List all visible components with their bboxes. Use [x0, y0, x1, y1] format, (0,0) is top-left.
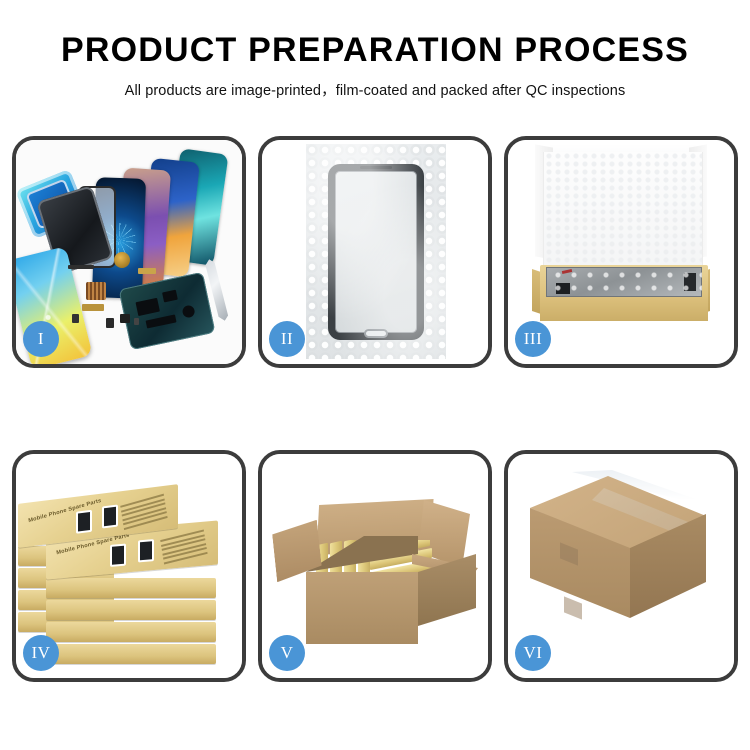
tape-tab-icon [564, 596, 582, 619]
small-part-icon [134, 318, 139, 325]
connector-grid-icon [86, 282, 106, 300]
step-badge-1: I [23, 321, 59, 357]
red-marker-icon [562, 269, 572, 274]
label-screen-image [102, 505, 118, 529]
kraft-inner-box [540, 265, 708, 321]
step-badge-5: V [269, 635, 305, 671]
step-badge-4: IV [23, 635, 59, 671]
step-panel-3: III [504, 136, 738, 368]
page-subtitle: All products are image-printed，film-coat… [0, 79, 750, 100]
wrapped-part-in-box [546, 267, 702, 297]
small-part-icon [106, 318, 114, 328]
label-checklist [120, 494, 168, 531]
small-components-group [68, 252, 198, 347]
label-checklist [160, 529, 208, 565]
stacked-box [46, 600, 216, 620]
label-screen-image [110, 544, 126, 567]
step-badge-3: III [515, 321, 551, 357]
step-panel-5: V [258, 450, 492, 682]
connector-icon [684, 273, 696, 291]
step-panel-4: Mobile Phone Spare Parts [12, 450, 246, 682]
header: PRODUCT PREPARATION PROCESS All products… [0, 0, 750, 100]
label-screen-image [138, 539, 154, 562]
step-panel-2: II [258, 136, 492, 368]
step-panel-6: VI [504, 450, 738, 682]
box-front-face [540, 297, 708, 321]
step-badge-2: II [269, 321, 305, 357]
connector-icon [556, 283, 570, 294]
step-panel-1: I [12, 136, 246, 368]
speaker-coil-icon [114, 252, 130, 268]
small-part-icon [72, 314, 79, 323]
film-sheen [306, 144, 446, 359]
carton-front-face [306, 572, 418, 644]
stacked-box [46, 578, 216, 598]
bubble-wrap-sheet [306, 144, 446, 359]
foam-padding [543, 152, 703, 282]
small-part-icon [120, 314, 130, 323]
stacked-box [46, 644, 216, 664]
product-preparation-infographic: PRODUCT PREPARATION PROCESS All products… [0, 0, 750, 750]
step-badge-6: VI [515, 635, 551, 671]
page-title: PRODUCT PREPARATION PROCESS [0, 30, 750, 70]
flex-cable-icon [138, 268, 156, 274]
process-steps-grid: I II [12, 136, 738, 682]
label-screen-image [76, 510, 92, 534]
earpiece-mesh-icon [68, 265, 94, 269]
stacked-box [46, 622, 216, 642]
flex-cable-icon [82, 304, 104, 311]
